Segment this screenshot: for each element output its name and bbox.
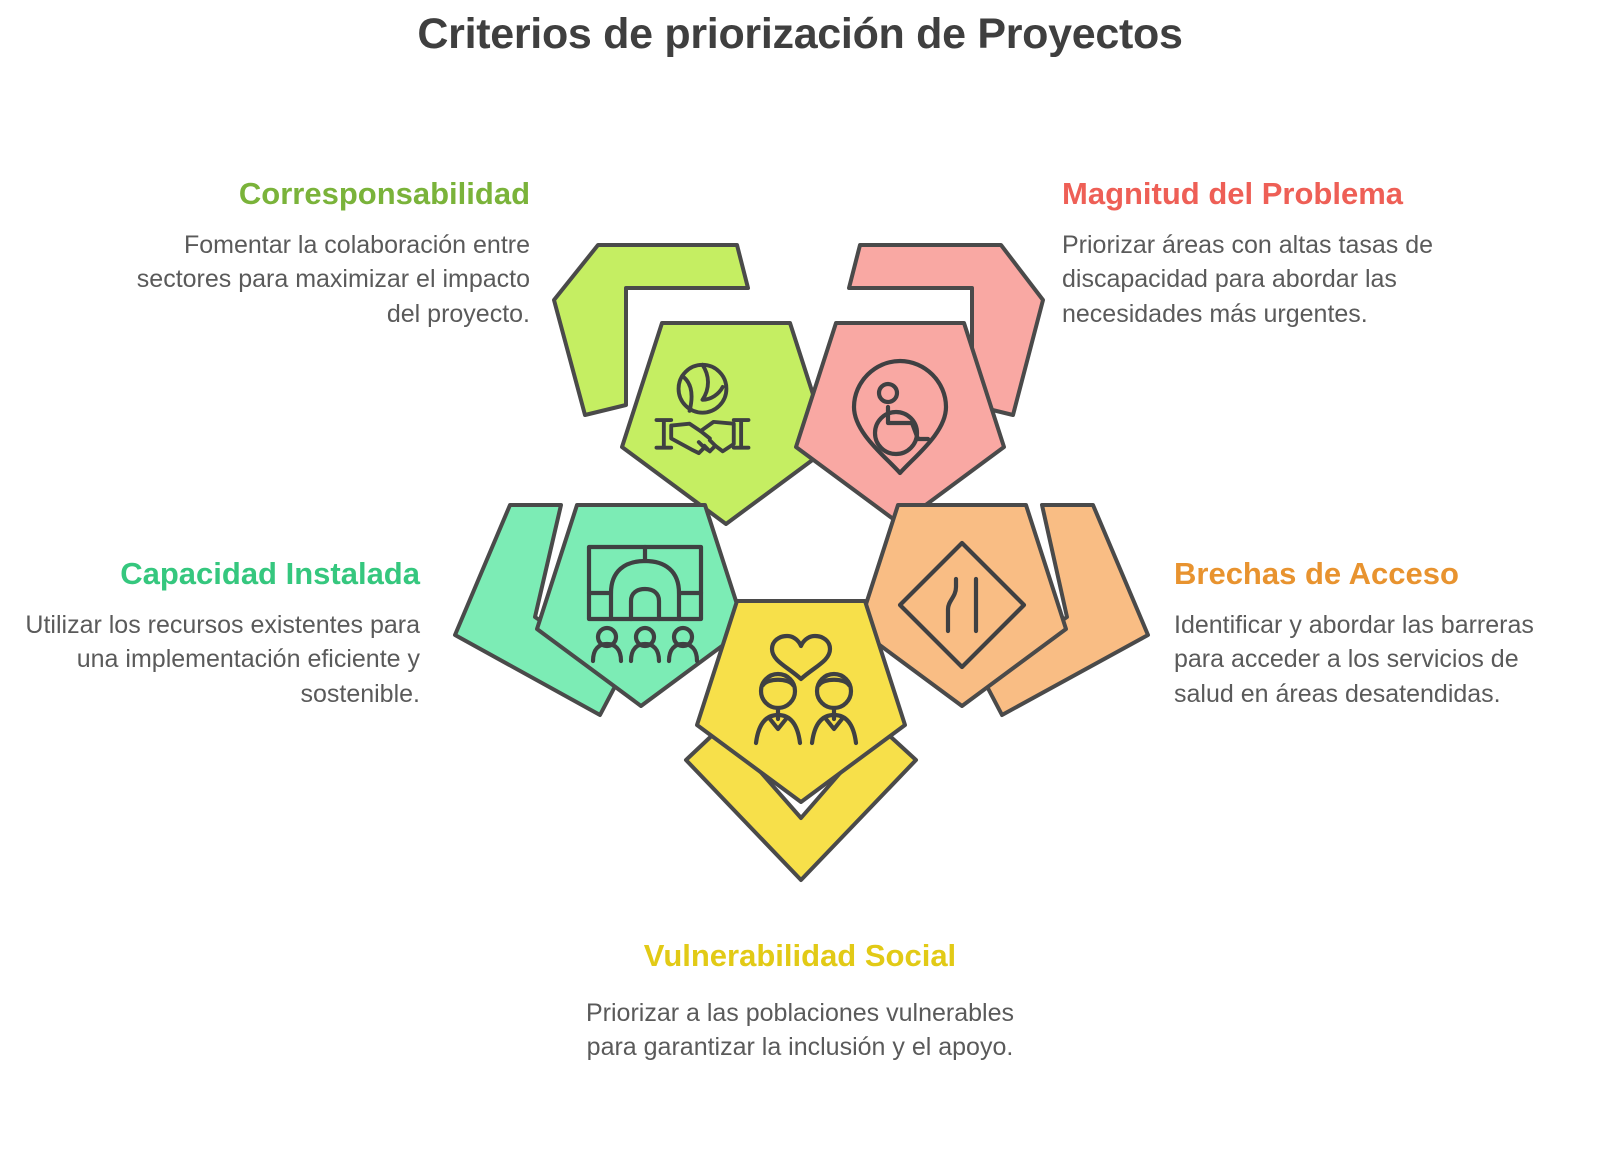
criterion-text-brechas-de-acceso: Brechas de Acceso Identificar y abordar … (1174, 556, 1574, 711)
criterion-heading-magnitud-del-problema: Magnitud del Problema (1062, 176, 1482, 212)
criterion-text-vulnerabilidad-social: Vulnerabilidad Social Priorizar a las po… (575, 938, 1025, 1065)
criterion-heading-corresponsabilidad: Corresponsabilidad (110, 176, 530, 212)
criterion-text-capacidad-instalada: Capacidad Instalada Utilizar los recurso… (10, 556, 420, 711)
criterion-body-vulnerabilidad-social: Priorizar a las poblaciones vulnerables … (575, 996, 1025, 1065)
criterion-heading-brechas-de-acceso: Brechas de Acceso (1174, 556, 1574, 592)
criterion-heading-capacidad-instalada: Capacidad Instalada (10, 556, 420, 592)
criterion-heading-vulnerabilidad-social: Vulnerabilidad Social (575, 938, 1025, 974)
page-title: Criterios de priorización de Proyectos (0, 10, 1600, 59)
criterion-body-brechas-de-acceso: Identificar y abordar las barreras para … (1174, 608, 1574, 712)
criteria-diagram (430, 215, 1170, 905)
criterion-body-capacidad-instalada: Utilizar los recursos existentes para un… (10, 608, 420, 712)
